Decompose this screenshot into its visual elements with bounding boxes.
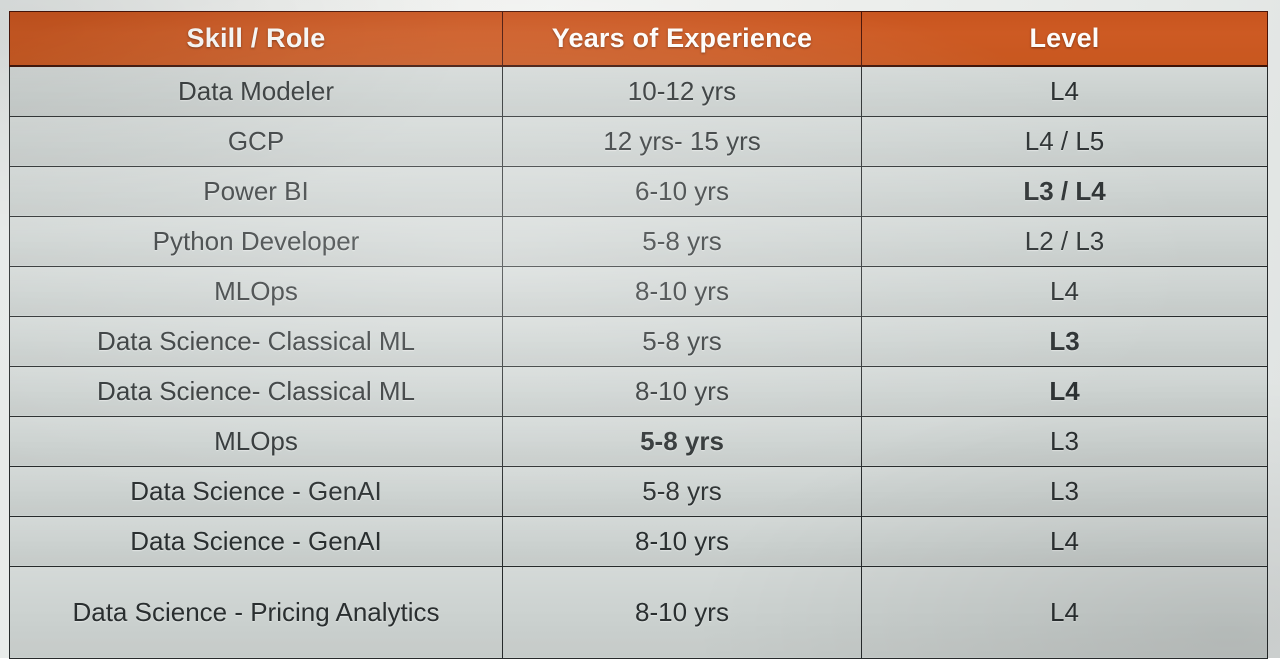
table-row: Data Science- Classical ML 8-10 yrs L4 bbox=[10, 366, 1268, 416]
cell-years-experience: 5-8 yrs bbox=[503, 216, 862, 266]
table-row: Data Science- Classical ML 5-8 yrs L3 bbox=[10, 316, 1268, 366]
photographed-table-page: Skill / Role Years of Experience Level D… bbox=[0, 0, 1280, 658]
cell-level: L2 / L3 bbox=[862, 216, 1268, 266]
table-row: Data Science - GenAI 5-8 yrs L3 bbox=[10, 466, 1268, 516]
skill-role-table: Skill / Role Years of Experience Level D… bbox=[9, 11, 1268, 659]
cell-level: L4 bbox=[862, 516, 1268, 566]
cell-level: L3 / L4 bbox=[862, 166, 1268, 216]
cell-skill-role: Data Science- Classical ML bbox=[10, 316, 503, 366]
cell-years-experience: 8-10 yrs bbox=[503, 366, 862, 416]
cell-years-experience: 5-8 yrs bbox=[503, 316, 862, 366]
cell-level: L4 bbox=[862, 366, 1268, 416]
cell-skill-role: Data Modeler bbox=[10, 66, 503, 116]
cell-skill-role: Data Science- Classical ML bbox=[10, 366, 503, 416]
cell-skill-role: Power BI bbox=[10, 166, 503, 216]
cell-years-experience: 10-12 yrs bbox=[503, 66, 862, 116]
cell-years-experience: 6-10 yrs bbox=[503, 166, 862, 216]
table-row: Power BI 6-10 yrs L3 / L4 bbox=[10, 166, 1268, 216]
header-years-experience: Years of Experience bbox=[503, 12, 862, 67]
cell-years-experience: 8-10 yrs bbox=[503, 566, 862, 658]
cell-years-experience: 8-10 yrs bbox=[503, 266, 862, 316]
table-row: GCP 12 yrs- 15 yrs L4 / L5 bbox=[10, 116, 1268, 166]
cell-years-experience: 5-8 yrs bbox=[503, 416, 862, 466]
cell-skill-role: MLOps bbox=[10, 266, 503, 316]
table-row: Data Science - GenAI 8-10 yrs L4 bbox=[10, 516, 1268, 566]
cell-years-experience: 5-8 yrs bbox=[503, 466, 862, 516]
table-header: Skill / Role Years of Experience Level bbox=[10, 12, 1268, 67]
cell-skill-role: Data Science - GenAI bbox=[10, 466, 503, 516]
table-row: MLOps 5-8 yrs L3 bbox=[10, 416, 1268, 466]
cell-level: L4 bbox=[862, 66, 1268, 116]
table-row: Python Developer 5-8 yrs L2 / L3 bbox=[10, 216, 1268, 266]
cell-skill-role: Python Developer bbox=[10, 216, 503, 266]
cell-skill-role: MLOps bbox=[10, 416, 503, 466]
cell-skill-role: Data Science - GenAI bbox=[10, 516, 503, 566]
table-container: Skill / Role Years of Experience Level D… bbox=[9, 11, 1267, 653]
table-row: Data Modeler 10-12 yrs L4 bbox=[10, 66, 1268, 116]
cell-level: L4 / L5 bbox=[862, 116, 1268, 166]
cell-level: L4 bbox=[862, 566, 1268, 658]
table-row: Data Science - Pricing Analytics 8-10 yr… bbox=[10, 566, 1268, 658]
table-row: MLOps 8-10 yrs L4 bbox=[10, 266, 1268, 316]
cell-level: L3 bbox=[862, 316, 1268, 366]
table-header-row: Skill / Role Years of Experience Level bbox=[10, 12, 1268, 67]
cell-skill-role: GCP bbox=[10, 116, 503, 166]
cell-skill-role: Data Science - Pricing Analytics bbox=[10, 566, 503, 658]
cell-level: L4 bbox=[862, 266, 1268, 316]
cell-years-experience: 12 yrs- 15 yrs bbox=[503, 116, 862, 166]
header-skill-role: Skill / Role bbox=[10, 12, 503, 67]
cell-years-experience: 8-10 yrs bbox=[503, 516, 862, 566]
cell-level: L3 bbox=[862, 466, 1268, 516]
header-level: Level bbox=[862, 12, 1268, 67]
cell-level: L3 bbox=[862, 416, 1268, 466]
table-body: Data Modeler 10-12 yrs L4 GCP 12 yrs- 15… bbox=[10, 66, 1268, 658]
